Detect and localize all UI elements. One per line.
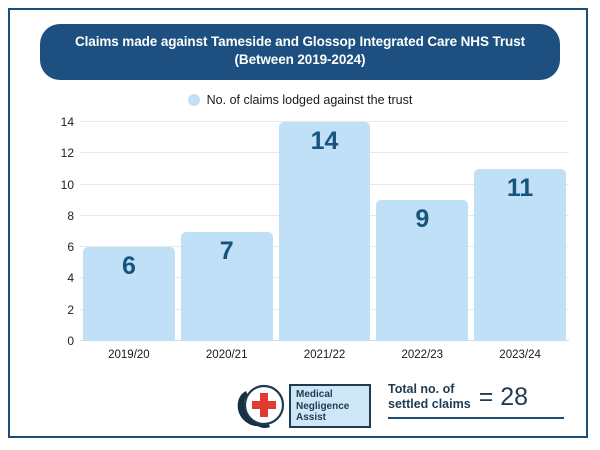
chart-title-banner: Claims made against Tameside and Glossop…	[40, 24, 560, 80]
bar-slot: 14	[276, 122, 374, 341]
bar-series: 6714911	[80, 122, 569, 341]
y-axis-tick-label: 0	[67, 334, 74, 348]
bar-slot: 7	[178, 122, 276, 341]
plot-area: 6714911	[80, 122, 569, 341]
bar[interactable]: 6	[83, 247, 175, 341]
y-axis-tick-label: 4	[67, 271, 74, 285]
infographic-card: Claims made against Tameside and Glossop…	[8, 8, 588, 438]
bar[interactable]: 14	[279, 122, 371, 341]
legend-dot-icon	[188, 94, 200, 106]
x-axis-tick-label: 2020/21	[178, 343, 276, 367]
bar-chart: 02468101214 6714911 2019/202020/212021/2…	[32, 115, 577, 367]
x-axis-tick-label: 2022/23	[373, 343, 471, 367]
total-label: Total no. of settled claims	[388, 382, 471, 412]
y-axis-labels: 02468101214	[32, 122, 74, 341]
bar-value-label: 11	[474, 176, 566, 201]
bar-value-label: 7	[181, 239, 273, 264]
bar-slot: 6	[80, 122, 178, 341]
y-axis-tick-label: 14	[61, 115, 74, 129]
bar[interactable]: 7	[181, 232, 273, 342]
bar[interactable]: 11	[474, 169, 566, 341]
total-value: = 28	[479, 385, 528, 410]
x-axis-tick-label: 2023/24	[471, 343, 569, 367]
y-axis-tick-label: 10	[61, 178, 74, 192]
bar-value-label: 6	[83, 254, 175, 279]
x-axis-tick-label: 2021/22	[276, 343, 374, 367]
bar-value-label: 9	[376, 207, 468, 232]
y-axis-tick-label: 6	[67, 240, 74, 254]
chart-title-line-1: Claims made against Tameside and Glossop…	[66, 33, 534, 51]
total-settled-claims: Total no. of settled claims = 28	[388, 382, 564, 419]
logo-text-line-3: Assist	[296, 412, 349, 424]
legend-item-label: No. of claims lodged against the trust	[207, 93, 413, 107]
bar-value-label: 14	[279, 129, 371, 154]
total-label-line-2: settled claims	[388, 397, 471, 412]
bar[interactable]: 9	[376, 200, 468, 341]
y-axis-tick-label: 12	[61, 146, 74, 160]
logo-text-line-2: Negligence	[296, 401, 349, 413]
brand-logo[interactable]: Medical Negligence Assist	[232, 380, 372, 432]
y-axis-tick-label: 8	[67, 209, 74, 223]
x-axis-tick-label: 2019/20	[80, 343, 178, 367]
bar-slot: 11	[471, 122, 569, 341]
logo-text-line-1: Medical	[296, 389, 349, 401]
chart-title-line-2: (Between 2019-2024)	[66, 51, 534, 69]
total-label-line-1: Total no. of	[388, 382, 471, 397]
y-axis-tick-label: 2	[67, 303, 74, 317]
x-axis-labels: 2019/202020/212021/222022/232023/24	[80, 343, 569, 367]
bar-slot: 9	[373, 122, 471, 341]
chart-legend: No. of claims lodged against the trust	[10, 93, 590, 107]
footer: Medical Negligence Assist Total no. of s…	[10, 370, 590, 438]
